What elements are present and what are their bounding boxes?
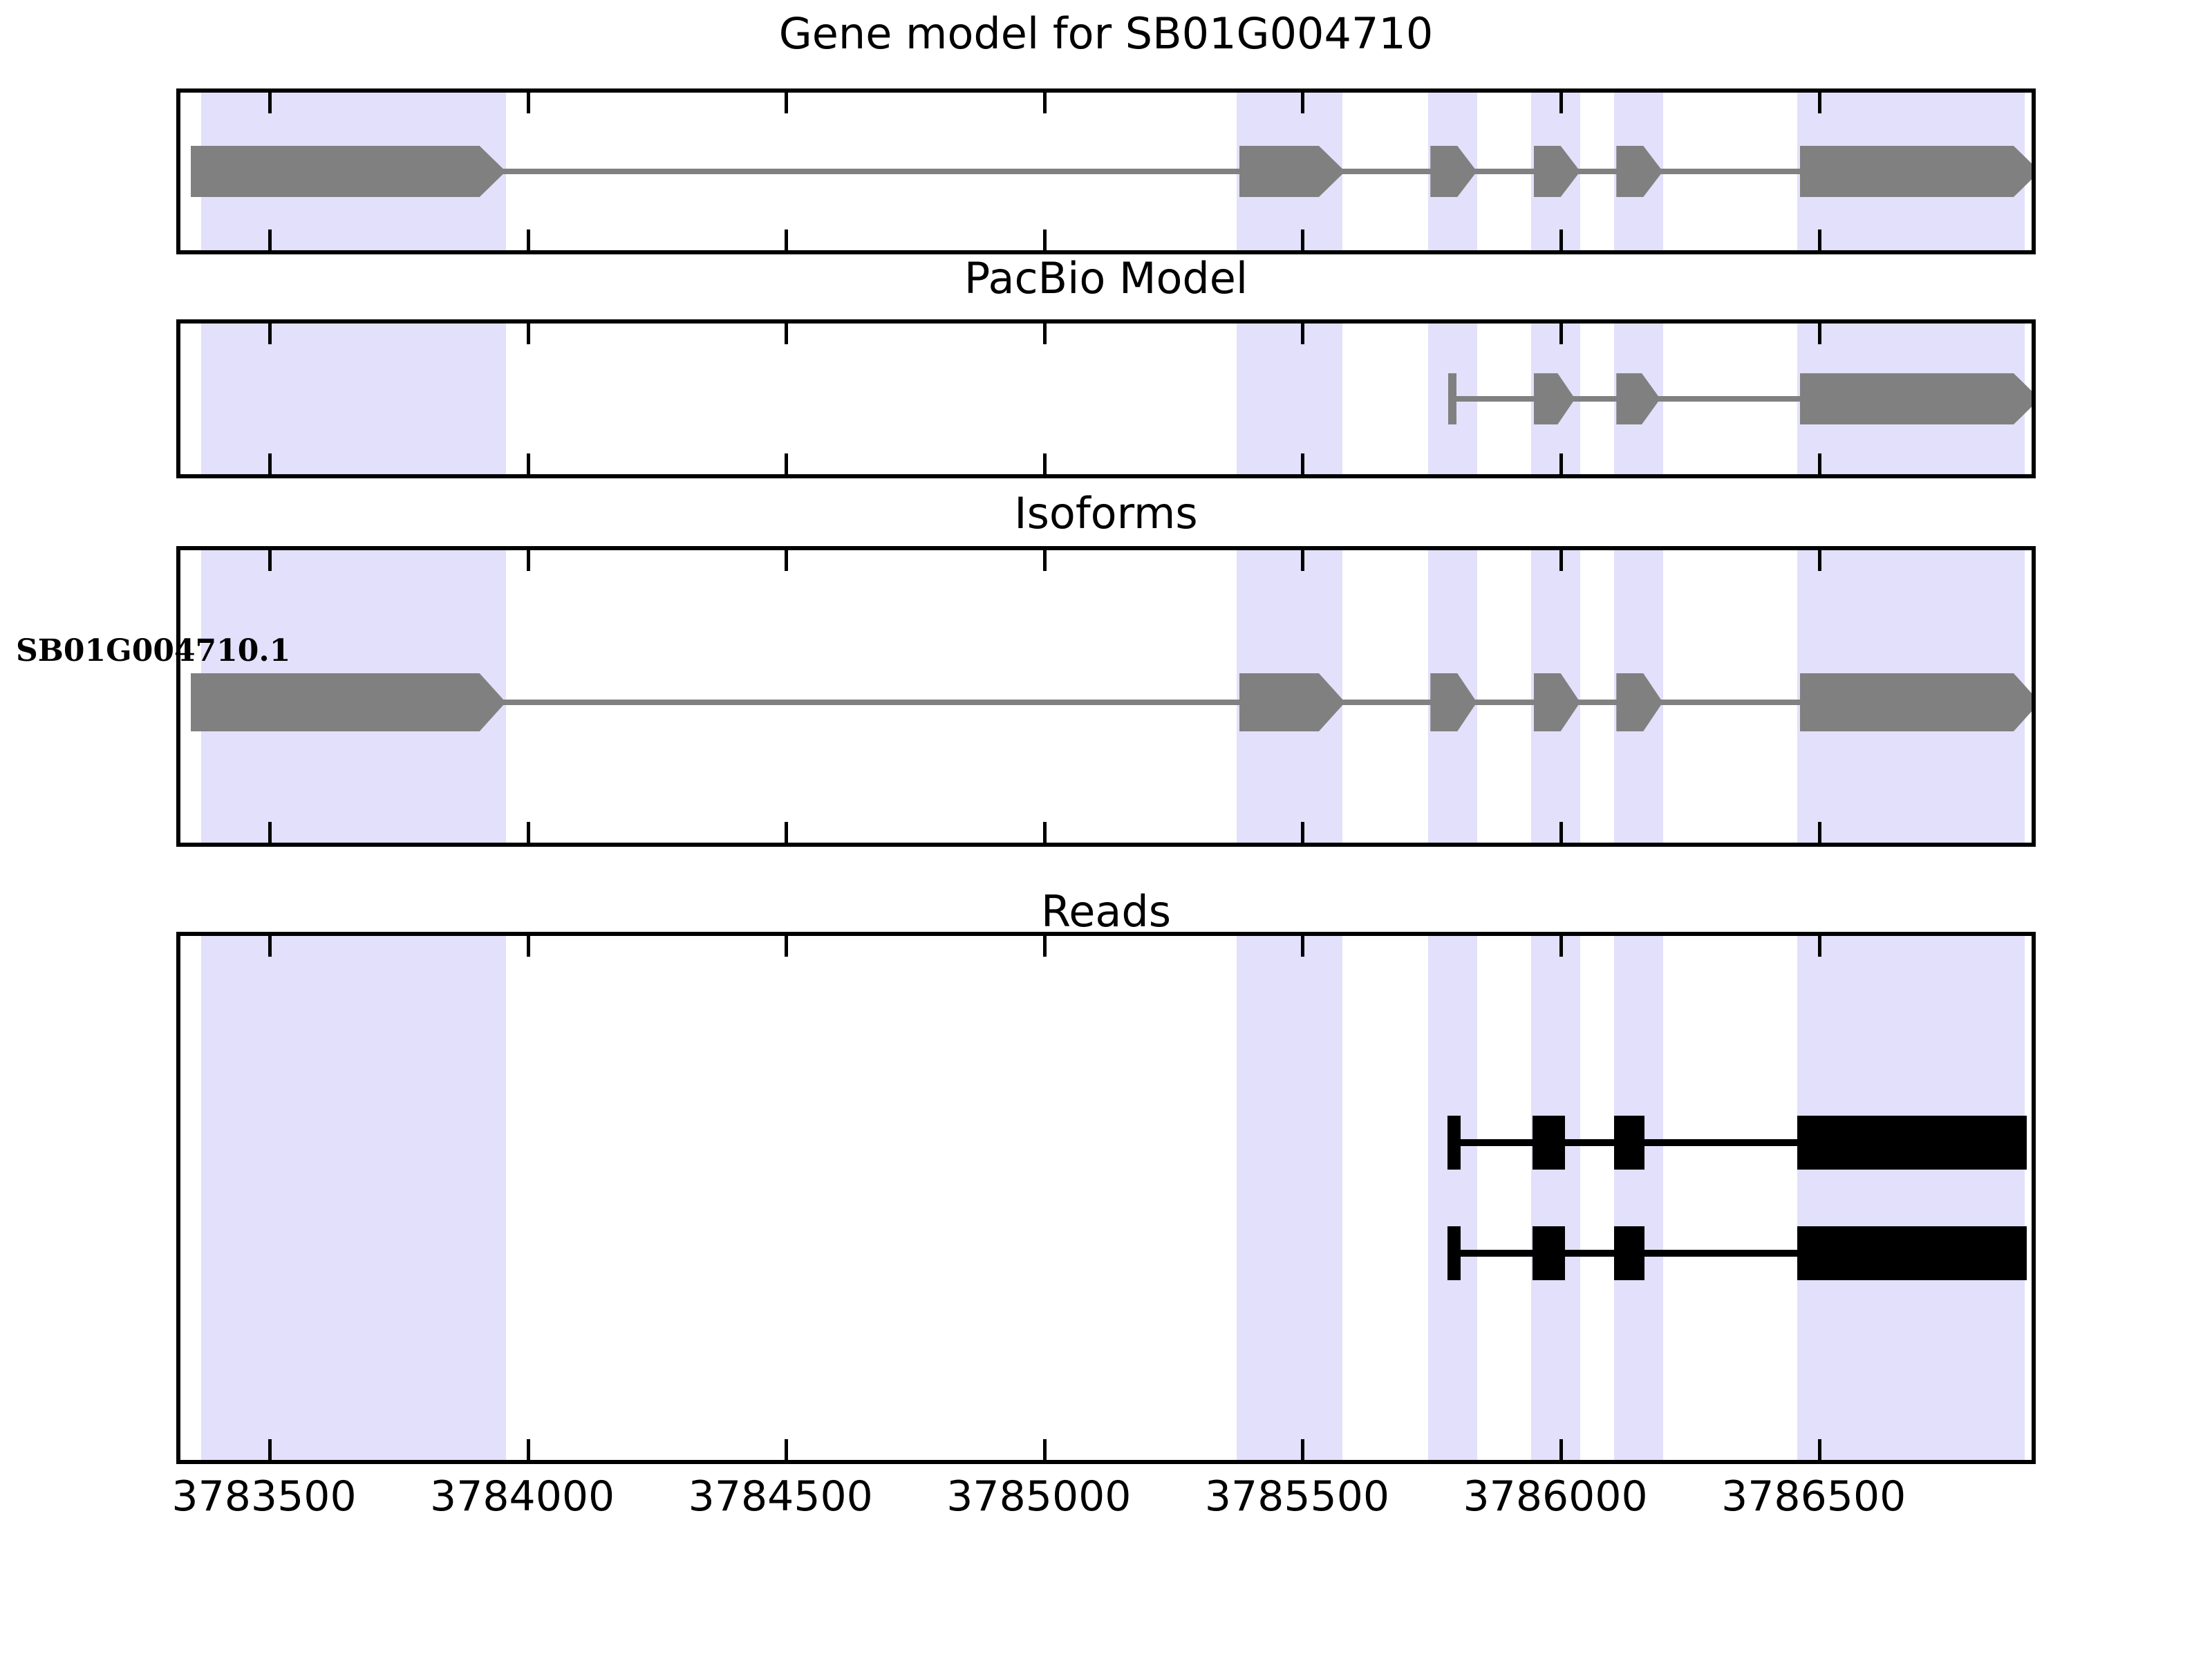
axis-tick bbox=[785, 822, 788, 843]
axis-tick bbox=[1818, 822, 1821, 843]
axis-tick bbox=[785, 936, 788, 957]
exon-block bbox=[1800, 673, 2036, 731]
axis-tick bbox=[268, 453, 272, 474]
highlight-band bbox=[1428, 936, 1477, 1460]
exon-block bbox=[1533, 1116, 1564, 1170]
axis-tick bbox=[1043, 550, 1047, 571]
exon-block bbox=[1447, 1116, 1461, 1170]
exon-block bbox=[191, 146, 506, 197]
axis-tick bbox=[1818, 229, 1821, 250]
axis-tick bbox=[785, 229, 788, 250]
axis-tick bbox=[1559, 550, 1563, 571]
highlight-band bbox=[201, 324, 506, 474]
axis-tick bbox=[1043, 453, 1047, 474]
highlight-band bbox=[1237, 936, 1342, 1460]
axis-tick bbox=[268, 936, 272, 957]
exon-block bbox=[1614, 1116, 1645, 1170]
highlight-band bbox=[1237, 324, 1342, 474]
x-axis-tick-label: 3786500 bbox=[1676, 1476, 1952, 1517]
figure-title: Gene model for SB01G004710 bbox=[0, 12, 2212, 55]
track-reads bbox=[176, 932, 2036, 1464]
axis-tick bbox=[1301, 936, 1304, 957]
axis-tick bbox=[785, 453, 788, 474]
axis-tick bbox=[1301, 453, 1304, 474]
panel-title-isoforms: Isoforms bbox=[0, 492, 2212, 535]
axis-tick bbox=[1301, 324, 1304, 344]
highlight-band bbox=[201, 936, 506, 1460]
axis-tick bbox=[1818, 324, 1821, 344]
axis-tick bbox=[1043, 936, 1047, 957]
exon-block bbox=[1797, 1226, 2027, 1280]
axis-tick bbox=[527, 1439, 530, 1460]
exon-block bbox=[1797, 1116, 2027, 1170]
axis-tick bbox=[1043, 324, 1047, 344]
x-axis-tick-label: 3784500 bbox=[642, 1476, 919, 1517]
exon-block bbox=[1614, 1226, 1645, 1280]
track-isoforms bbox=[176, 546, 2036, 847]
axis-tick bbox=[1818, 453, 1821, 474]
axis-tick bbox=[785, 1439, 788, 1460]
axis-tick bbox=[527, 229, 530, 250]
x-axis-tick-label: 3785000 bbox=[901, 1476, 1177, 1517]
exon-block bbox=[1533, 1226, 1564, 1280]
highlight-band bbox=[1531, 936, 1580, 1460]
axis-tick bbox=[527, 93, 530, 113]
isoform-label: SB01G004710.1 bbox=[16, 633, 290, 668]
axis-tick bbox=[527, 453, 530, 474]
exon-block bbox=[1447, 1226, 1461, 1280]
axis-tick bbox=[268, 229, 272, 250]
track-pacbio_model bbox=[176, 319, 2036, 478]
axis-tick bbox=[1818, 93, 1821, 113]
x-axis-tick-label: 3784000 bbox=[384, 1476, 661, 1517]
axis-tick bbox=[1559, 93, 1563, 113]
highlight-band bbox=[1614, 936, 1663, 1460]
axis-tick bbox=[268, 93, 272, 113]
axis-tick bbox=[268, 324, 272, 344]
axis-tick bbox=[1301, 550, 1304, 571]
exon-block bbox=[1448, 373, 1456, 424]
axis-tick bbox=[527, 822, 530, 843]
axis-tick bbox=[785, 324, 788, 344]
axis-tick bbox=[785, 93, 788, 113]
axis-tick bbox=[268, 1439, 272, 1460]
axis-tick bbox=[785, 550, 788, 571]
x-axis-tick-label: 3785500 bbox=[1159, 1476, 1435, 1517]
axis-tick bbox=[1818, 1439, 1821, 1460]
axis-tick bbox=[1559, 1439, 1563, 1460]
axis-tick bbox=[1043, 1439, 1047, 1460]
axis-tick bbox=[1559, 229, 1563, 250]
axis-tick bbox=[527, 550, 530, 571]
exon-block bbox=[1800, 373, 2036, 424]
axis-tick bbox=[268, 822, 272, 843]
highlight-band bbox=[1797, 936, 2025, 1460]
exon-block bbox=[1800, 146, 2036, 197]
axis-tick bbox=[1043, 822, 1047, 843]
x-axis-tick-label: 3783500 bbox=[126, 1476, 402, 1517]
panel-title-reads: Reads bbox=[0, 890, 2212, 933]
exon-block bbox=[191, 673, 506, 731]
axis-tick bbox=[1301, 1439, 1304, 1460]
x-axis-tick-label: 3786000 bbox=[1417, 1476, 1694, 1517]
axis-tick bbox=[268, 550, 272, 571]
axis-tick bbox=[1301, 93, 1304, 113]
axis-tick bbox=[1301, 822, 1304, 843]
axis-tick bbox=[1559, 936, 1563, 957]
axis-tick bbox=[1818, 936, 1821, 957]
axis-tick bbox=[1559, 822, 1563, 843]
axis-tick bbox=[527, 936, 530, 957]
axis-tick bbox=[1043, 93, 1047, 113]
figure-canvas: Gene model for SB01G004710PacBio ModelIs… bbox=[0, 0, 2212, 1659]
axis-tick bbox=[1301, 229, 1304, 250]
axis-tick bbox=[1559, 453, 1563, 474]
track-gene_model bbox=[176, 88, 2036, 254]
axis-tick bbox=[527, 324, 530, 344]
axis-tick bbox=[1818, 550, 1821, 571]
axis-tick bbox=[1559, 324, 1563, 344]
axis-tick bbox=[1043, 229, 1047, 250]
panel-title-pacbio_model: PacBio Model bbox=[0, 257, 2212, 300]
